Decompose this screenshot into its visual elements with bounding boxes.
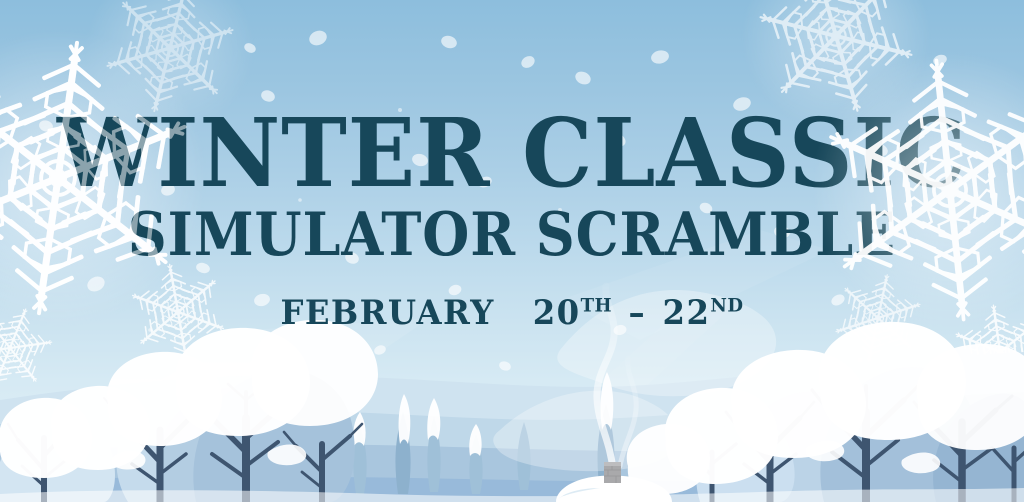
snowflake-right-large-overlay (803, 45, 1024, 335)
snowflake-left-large-overlay (0, 22, 217, 334)
winter-classic-banner: WINTER CLASSIC SIMULATOR SCRAMBLE FEBRUA… (0, 0, 1024, 502)
foreground-snowflakes-layer (0, 0, 1024, 502)
